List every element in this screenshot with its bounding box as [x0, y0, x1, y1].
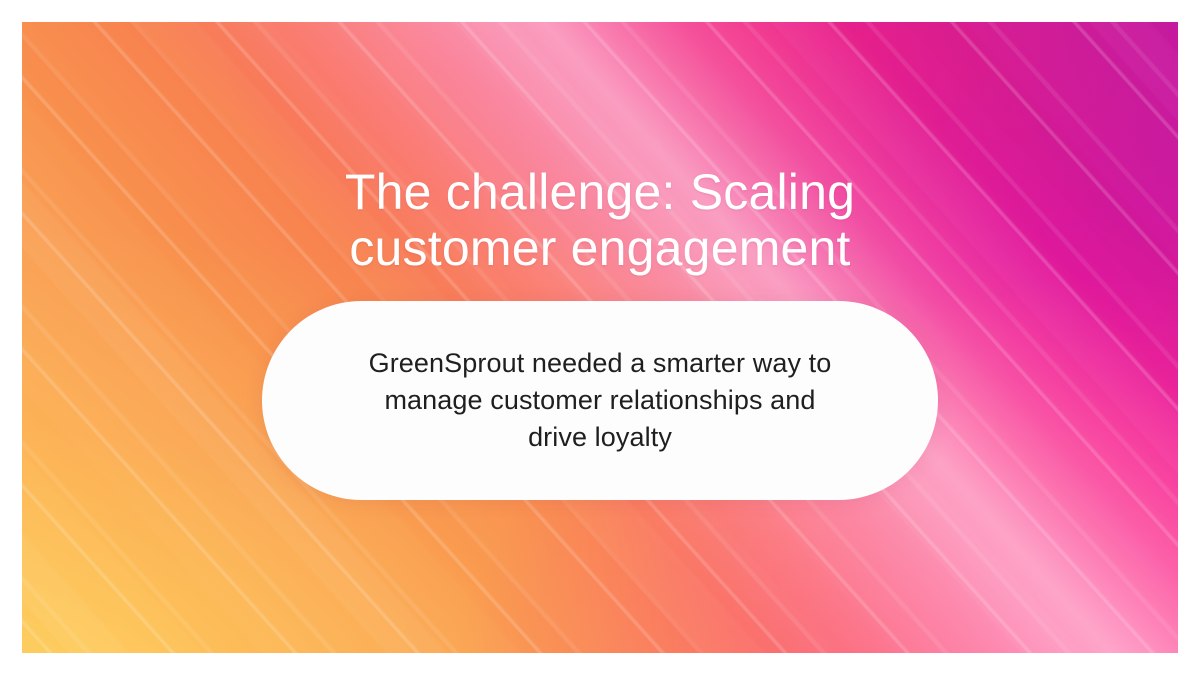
- callout-text-line-2: manage customer relationships and: [330, 382, 870, 419]
- slide-root: The challenge: Scaling customer engageme…: [0, 0, 1200, 675]
- callout-pill: GreenSprout needed a smarter way to mana…: [262, 301, 938, 500]
- slide-title: The challenge: Scaling customer engageme…: [0, 164, 1200, 276]
- slide-title-line-2: customer engagement: [0, 220, 1200, 276]
- callout-text-line-1: GreenSprout needed a smarter way to: [330, 345, 870, 382]
- slide-title-line-1: The challenge: Scaling: [0, 164, 1200, 220]
- callout-text-line-3: drive loyalty: [330, 419, 870, 456]
- callout-text: GreenSprout needed a smarter way to mana…: [330, 345, 870, 456]
